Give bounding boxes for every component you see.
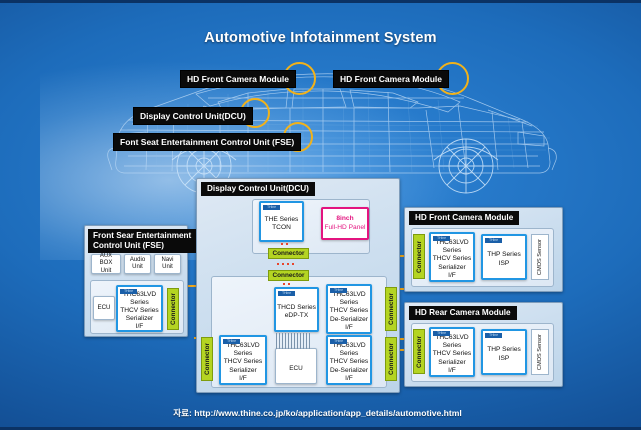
- fse-title-line1: Front Sear Entertainment: [93, 231, 191, 241]
- fse-connector[interactable]: Connector: [167, 288, 179, 330]
- dcu-deserializer-top-chip: THine THC63LVD Series THCV Series De-Ser…: [326, 284, 372, 334]
- callout-display-control-unit: Display Control Unit(DCU): [133, 107, 253, 125]
- rear-cam-ser-line2: Series: [443, 342, 462, 350]
- fse-chip-line2: Series: [130, 299, 149, 307]
- fse-unit-navi: Navi Unit: [154, 254, 181, 274]
- dcu-panel-size: 8inch: [336, 215, 353, 223]
- dcu-connector-mid[interactable]: Connector: [268, 270, 309, 281]
- fse-unit-navi-line1: Navi: [161, 257, 173, 264]
- dcu-ser-left-line2: Series: [234, 350, 253, 358]
- thine-logo-icon: THine: [485, 333, 502, 338]
- thine-logo-icon: THine: [278, 291, 295, 296]
- panel-front-seat-entertainment: Front Sear Entertainment Control Unit (F…: [84, 225, 188, 337]
- fse-ecu-label: ECU: [97, 304, 110, 312]
- dcu-tcon-line2: TCON: [272, 224, 291, 232]
- dcu-connector-right-top-label: Connector: [388, 293, 395, 325]
- dcu-panel-title: Display Control Unit(DCU): [201, 182, 315, 196]
- diagram-canvas: Automotive Infotainment System: [0, 0, 641, 430]
- front-cam-sensor-line2: Sensor: [537, 239, 543, 257]
- rear-cam-sensor-line2: Sensor: [537, 334, 543, 352]
- dcu-connector-right-bottom-label: Connector: [388, 343, 395, 375]
- fse-chip-line3: THCV Series: [120, 307, 158, 315]
- rear-cam-ser-line3: THCV Series: [433, 350, 471, 358]
- dcu-tcon-line1: THE Series: [265, 216, 299, 224]
- dcu-bus-stripes: [276, 333, 310, 349]
- fse-title-line2: Control Unit (FSE): [93, 241, 191, 251]
- dcu-connector-right-top[interactable]: Connector: [385, 287, 397, 331]
- thine-logo-icon: THine: [330, 339, 347, 344]
- panel-hd-rear-camera-module: HD Rear Camera Module Connector THine TH…: [404, 302, 563, 387]
- dcu-ser-left-line1: THC63LVD: [226, 342, 259, 350]
- dcu-ser-left-line5: I/F: [239, 375, 247, 383]
- rear-camera-serializer-chip: THine THC63LVD Series THCV Series Serial…: [429, 327, 475, 377]
- panel-display-control-unit: Display Control Unit(DCU) THine THE Seri…: [196, 178, 400, 393]
- callout-front-seat-entertainment: Font Seat Entertainment Control Unit (FS…: [113, 133, 301, 151]
- fse-chip-line5: I/F: [136, 323, 144, 331]
- dcu-tcon-chip: THine THE Series TCON: [259, 201, 304, 242]
- dcu-ecu-label: ECU: [289, 365, 303, 373]
- dcu-deserializer-bottom-chip: THine THC63LVD Series THCV Series De-Ser…: [326, 335, 372, 385]
- front-cam-ser-line2: Series: [443, 247, 462, 255]
- dcu-deser-bot-line2: Series: [340, 350, 359, 358]
- dcu-connector-top[interactable]: Connector: [268, 248, 309, 259]
- front-cam-sensor-line1: CMOS: [537, 258, 543, 275]
- dcu-ecu: ECU: [275, 348, 317, 384]
- rear-camera-cmos-sensor: CMOS Sensor: [531, 329, 549, 375]
- rear-camera-connector[interactable]: Connector: [413, 329, 425, 374]
- dcu-deser-bot-line5: I/F: [345, 375, 353, 383]
- fse-chip-line4: Serializer: [126, 315, 153, 323]
- fse-connector-label: Connector: [170, 293, 177, 325]
- front-cam-ser-line4: Serializer: [438, 264, 465, 272]
- dcu-edptx-line2: eDP-TX: [285, 312, 308, 320]
- dcu-ser-left-line3: THCV Series: [224, 358, 262, 366]
- thine-logo-icon: THine: [330, 288, 347, 293]
- dcu-edp-tx-chip: THine THCD Series eDP-TX: [274, 287, 319, 332]
- dcu-serializer-left-chip: THine THC63LVD Series THCV Series Serial…: [219, 335, 267, 385]
- dcu-link-dots-upper: [281, 243, 288, 245]
- panel-hd-front-camera-module: HD Front Camera Module Connector THine T…: [404, 207, 563, 292]
- fse-unit-audio-line1: Audio: [130, 257, 145, 264]
- thine-logo-icon: THine: [433, 331, 450, 336]
- front-camera-cmos-sensor: CMOS Sensor: [531, 234, 549, 280]
- rear-cam-ser-line4: Serializer: [438, 359, 465, 367]
- dcu-deser-top-line2: Series: [340, 299, 359, 307]
- dcu-connector-top-label: Connector: [273, 250, 305, 257]
- fse-unit-audio-line2: Unit: [132, 264, 143, 271]
- fse-unit-audio: Audio Unit: [124, 254, 151, 274]
- fse-unit-aux-box: AUX BOX Unit: [91, 254, 121, 274]
- front-cam-isp-line2: ISP: [499, 260, 510, 268]
- dcu-link-dots-lower: [283, 283, 290, 285]
- fse-unit-navi-line2: Unit: [162, 264, 173, 271]
- front-cam-ser-line1: THC63LVD: [435, 239, 468, 247]
- rear-camera-isp-chip: THine THP Series ISP: [481, 329, 527, 375]
- dcu-deser-top-line5: I/F: [345, 324, 353, 332]
- dcu-connector-right-bottom[interactable]: Connector: [385, 337, 397, 381]
- dcu-edptx-line1: THCD Series: [277, 304, 316, 312]
- front-cam-ser-line5: I/F: [448, 272, 456, 280]
- fse-unit-aux-line1: AUX BOX: [93, 253, 119, 268]
- front-camera-isp-chip: THine THP Series ISP: [481, 234, 527, 280]
- thine-logo-icon: THine: [485, 238, 502, 243]
- page-title: Automotive Infotainment System: [0, 30, 641, 46]
- dcu-connector-left-label: Connector: [204, 343, 211, 375]
- dcu-deser-top-line4: De-Serializer: [330, 316, 368, 324]
- front-cam-isp-line1: THP Series: [487, 251, 521, 259]
- front-camera-connector[interactable]: Connector: [413, 234, 425, 279]
- dcu-link-dots-mid: [277, 263, 294, 265]
- rear-camera-connector-label: Connector: [416, 336, 423, 368]
- dcu-panel-label: Full-HD Panel: [324, 224, 365, 232]
- source-footer: 자료: http://www.thine.co.jp/ko/applicatio…: [0, 407, 641, 419]
- dcu-deser-bot-line3: THCV Series: [330, 358, 368, 366]
- dcu-connector-mid-label: Connector: [273, 272, 305, 279]
- callout-hd-front-camera-2: HD Front Camera Module: [333, 70, 449, 88]
- thine-logo-icon: THine: [263, 205, 280, 210]
- dcu-ser-left-line4: Serializer: [229, 367, 256, 375]
- dcu-connector-left[interactable]: Connector: [201, 337, 213, 381]
- front-camera-connector-label: Connector: [416, 241, 423, 273]
- rear-cam-ser-line1: THC63LVD: [435, 334, 468, 342]
- thine-logo-icon: THine: [223, 339, 240, 344]
- fse-serializer-chip: THine THC63LVD Series THCV Series Serial…: [116, 285, 163, 332]
- dcu-deser-bot-line4: De-Serializer: [330, 367, 368, 375]
- dcu-deser-top-line1: THC63LVD: [332, 291, 365, 299]
- front-cam-ser-line3: THCV Series: [433, 255, 471, 263]
- thine-logo-icon: THine: [433, 236, 450, 241]
- front-camera-panel-title: HD Front Camera Module: [409, 211, 519, 225]
- fse-ecu: ECU: [93, 296, 115, 320]
- rear-cam-isp-line1: THP Series: [487, 346, 521, 354]
- dcu-deser-bot-line1: THC63LVD: [332, 342, 365, 350]
- thine-logo-icon: THine: [120, 289, 137, 294]
- callout-hd-front-camera-1: HD Front Camera Module: [180, 70, 296, 88]
- rear-cam-isp-line2: ISP: [499, 355, 510, 363]
- fse-unit-aux-line2: Unit: [101, 268, 112, 275]
- front-camera-serializer-chip: THine THC63LVD Series THCV Series Serial…: [429, 232, 475, 282]
- rear-cam-ser-line5: I/F: [448, 367, 456, 375]
- fse-panel-title: Front Sear Entertainment Control Unit (F…: [88, 229, 196, 253]
- dcu-full-hd-panel: 8inch Full-HD Panel: [321, 207, 369, 240]
- dcu-deser-top-line3: THCV Series: [330, 307, 368, 315]
- rear-camera-panel-title: HD Rear Camera Module: [409, 306, 517, 320]
- rear-cam-sensor-line1: CMOS: [537, 353, 543, 370]
